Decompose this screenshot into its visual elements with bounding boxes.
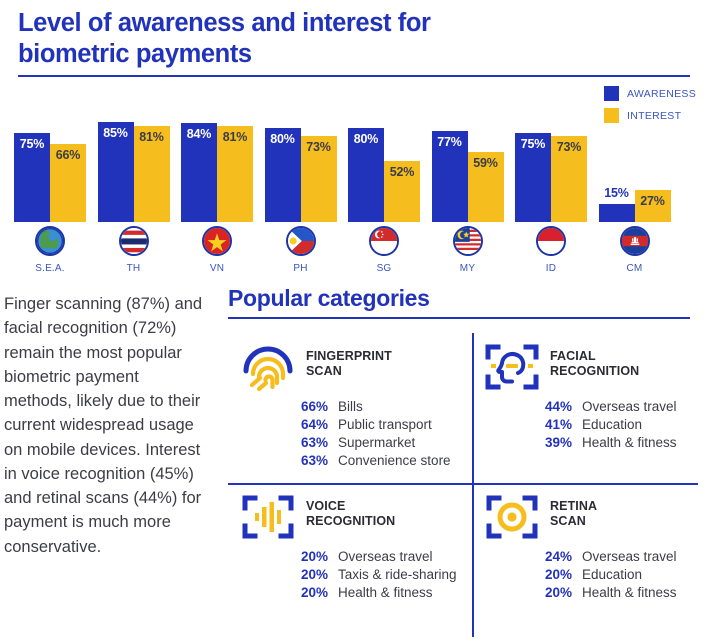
stat-row: 20%Education	[534, 567, 698, 582]
categories-grid: FINGERPRINT SCAN66%Bills64%Public transp…	[228, 333, 698, 637]
bar-value-label: 77%	[432, 135, 468, 149]
bar-awareness-sg: 80%	[348, 128, 384, 222]
stat-percent: 41%	[534, 417, 572, 432]
bar-interest-vn: 81%	[217, 126, 253, 222]
stat-percent: 20%	[534, 585, 572, 600]
quadrant-title: FINGERPRINT SCAN	[306, 341, 392, 379]
bar-group-sea: 75%66%	[14, 133, 86, 222]
chart-axis-cell: MY	[432, 222, 504, 278]
bar-value-label: 15%	[599, 186, 635, 200]
bar-interest-sg: 52%	[384, 161, 420, 222]
bar-chart: 75%66%S.E.A.85%81%TH84%81%VN80%73%PH80%5…	[0, 88, 708, 278]
bar-interest-th: 81%	[134, 126, 170, 222]
bar-awareness-th: 85%	[98, 122, 134, 222]
stat-label: Supermarket	[338, 435, 415, 450]
stat-label: Bills	[338, 399, 363, 414]
quadrant-stat-list: 44%Overseas travel41%Education39%Health …	[484, 399, 698, 450]
bar-value-label: 84%	[181, 127, 217, 141]
cambodia-flag	[620, 226, 650, 256]
stat-percent: 39%	[534, 435, 572, 450]
stat-row: 64%Public transport	[290, 417, 472, 432]
quadrant-title: FACIAL RECOGNITION	[550, 341, 639, 379]
bar-interest-sea: 66%	[50, 144, 86, 222]
stat-row: 44%Overseas travel	[534, 399, 698, 414]
stat-percent: 24%	[534, 549, 572, 564]
stat-label: Taxis & ride-sharing	[338, 567, 457, 582]
bar-group-cm: 15%27%	[599, 190, 671, 222]
bar-value-label: 80%	[265, 132, 301, 146]
stat-row: 20%Taxis & ride-sharing	[290, 567, 472, 582]
bar-value-label: 73%	[301, 140, 337, 154]
stat-label: Health & fitness	[582, 435, 677, 450]
malaysia-flag	[453, 226, 483, 256]
stat-row: 63%Convenience store	[290, 453, 472, 468]
stat-row: 20%Health & fitness	[290, 585, 472, 600]
popular-categories-divider	[228, 317, 690, 319]
quadrant-stat-list: 66%Bills64%Public transport63%Supermarke…	[240, 399, 472, 468]
bar-value-label: 81%	[134, 130, 170, 144]
bar-value-label: 27%	[635, 194, 671, 208]
chart-axis-cell: CM	[599, 222, 671, 278]
stat-row: 66%Bills	[290, 399, 472, 414]
bar-awareness-my: 77%	[432, 131, 468, 222]
bar-group-my: 77%59%	[432, 131, 504, 222]
bar-awareness-vn: 84%	[181, 123, 217, 222]
country-label-sg: SG	[348, 263, 420, 274]
bar-interest-cm: 27%	[635, 190, 671, 222]
vietnam-flag	[202, 226, 232, 256]
bar-awareness-id: 75%	[515, 133, 551, 222]
stat-percent: 20%	[290, 549, 328, 564]
country-label-cm: CM	[599, 263, 671, 274]
stat-label: Public transport	[338, 417, 432, 432]
retina-scan-icon	[484, 491, 540, 543]
stat-row: 24%Overseas travel	[534, 549, 698, 564]
infographic-page: Level of awareness and interest for biom…	[0, 0, 708, 641]
quadrant-header: RETINA SCAN	[484, 491, 698, 543]
quadrant-title: RETINA SCAN	[550, 491, 597, 529]
stat-label: Convenience store	[338, 453, 451, 468]
chart-axis-cell: ID	[515, 222, 587, 278]
quadrant-title: VOICE RECOGNITION	[306, 491, 395, 529]
bar-interest-my: 59%	[468, 152, 504, 222]
philippines-flag	[286, 226, 316, 256]
facial-recognition-icon	[484, 341, 540, 393]
stat-label: Overseas travel	[338, 549, 433, 564]
fingerprint-scan-icon	[240, 341, 296, 393]
bar-group-id: 75%73%	[515, 133, 587, 222]
chart-axis-cell: VN	[181, 222, 253, 278]
bar-value-label: 73%	[551, 140, 587, 154]
stat-label: Health & fitness	[582, 585, 677, 600]
thailand-flag	[119, 226, 149, 256]
indonesia-flag	[536, 226, 566, 256]
category-quadrant-retina-scan: RETINA SCAN24%Overseas travel20%Educatio…	[472, 483, 698, 637]
bar-value-label: 81%	[217, 130, 253, 144]
bar-value-label: 52%	[384, 165, 420, 179]
stat-percent: 20%	[290, 567, 328, 582]
stat-percent: 64%	[290, 417, 328, 432]
page-title: Level of awareness and interest for biom…	[18, 8, 538, 70]
country-label-my: MY	[432, 263, 504, 274]
quadrant-header: FACIAL RECOGNITION	[484, 341, 698, 393]
stat-row: 39%Health & fitness	[534, 435, 698, 450]
quadrant-stat-list: 24%Overseas travel20%Education20%Health …	[484, 549, 698, 600]
stat-label: Overseas travel	[582, 399, 677, 414]
stat-percent: 63%	[290, 435, 328, 450]
body-paragraph: Finger scanning (87%) and facial recogni…	[4, 292, 204, 559]
country-label-ph: PH	[265, 263, 337, 274]
chart-axis-cell: TH	[98, 222, 170, 278]
stat-label: Education	[582, 567, 642, 582]
bar-interest-ph: 73%	[301, 136, 337, 222]
stat-row: 63%Supermarket	[290, 435, 472, 450]
bar-awareness-ph: 80%	[265, 128, 301, 222]
stat-percent: 44%	[534, 399, 572, 414]
singapore-flag	[369, 226, 399, 256]
quadrant-header: FINGERPRINT SCAN	[240, 341, 472, 393]
country-label-sea: S.E.A.	[14, 263, 86, 274]
country-label-vn: VN	[181, 263, 253, 274]
category-quadrant-voice-recognition: VOICE RECOGNITION20%Overseas travel20%Ta…	[228, 483, 472, 637]
bar-value-label: 75%	[515, 137, 551, 151]
stat-label: Education	[582, 417, 642, 432]
stat-percent: 63%	[290, 453, 328, 468]
quadrant-stat-list: 20%Overseas travel20%Taxis & ride-sharin…	[240, 549, 472, 600]
bar-interest-id: 73%	[551, 136, 587, 222]
chart-axis-cell: S.E.A.	[14, 222, 86, 278]
bar-value-label: 59%	[468, 156, 504, 170]
stat-label: Overseas travel	[582, 549, 677, 564]
globe-flag	[35, 226, 65, 256]
bar-group-sg: 80%52%	[348, 128, 420, 222]
stat-row: 20%Health & fitness	[534, 585, 698, 600]
popular-categories-section: Popular categories FINGERPRINT SCAN66%Bi…	[228, 286, 698, 641]
bar-group-ph: 80%73%	[265, 128, 337, 222]
popular-categories-title: Popular categories	[228, 286, 698, 311]
category-quadrant-facial-recognition: FACIAL RECOGNITION44%Overseas travel41%E…	[472, 333, 698, 483]
stat-percent: 66%	[290, 399, 328, 414]
stat-label: Health & fitness	[338, 585, 433, 600]
bar-value-label: 66%	[50, 148, 86, 162]
bar-value-label: 80%	[348, 132, 384, 146]
stat-row: 41%Education	[534, 417, 698, 432]
chart-axis-cell: PH	[265, 222, 337, 278]
bar-group-th: 85%81%	[98, 122, 170, 222]
voice-recognition-icon	[240, 491, 296, 543]
title-divider	[18, 75, 690, 77]
bar-awareness-sea: 75%	[14, 133, 50, 222]
category-quadrant-fingerprint-scan: FINGERPRINT SCAN66%Bills64%Public transp…	[228, 333, 472, 483]
stat-row: 20%Overseas travel	[290, 549, 472, 564]
stat-percent: 20%	[534, 567, 572, 582]
bar-group-vn: 84%81%	[181, 123, 253, 222]
quadrant-header: VOICE RECOGNITION	[240, 491, 472, 543]
country-label-th: TH	[98, 263, 170, 274]
bar-value-label: 85%	[98, 126, 134, 140]
bar-awareness-cm: 15%	[599, 204, 635, 222]
bar-value-label: 75%	[14, 137, 50, 151]
chart-axis-cell: SG	[348, 222, 420, 278]
stat-percent: 20%	[290, 585, 328, 600]
country-label-id: ID	[515, 263, 587, 274]
